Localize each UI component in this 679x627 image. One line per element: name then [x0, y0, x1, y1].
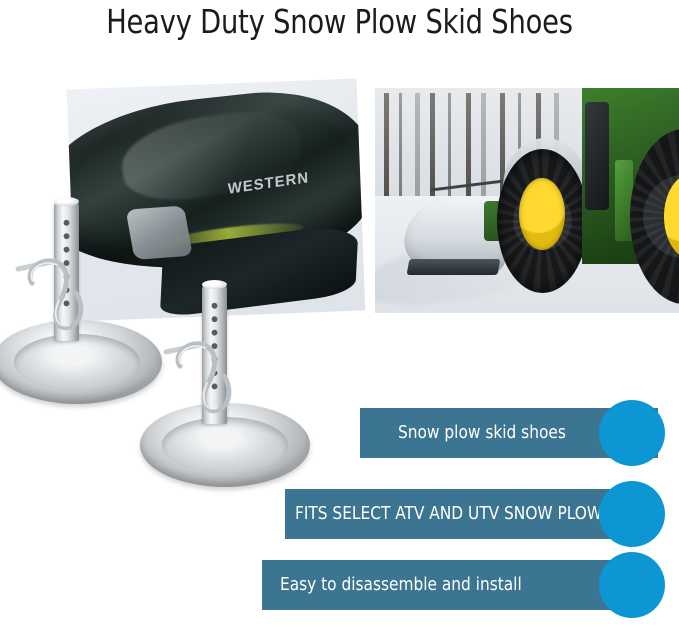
tree-trunk [481, 93, 486, 206]
hairpin-clip-icon [160, 326, 246, 422]
tractor-exhaust-stack [585, 102, 609, 210]
skid-shoe-back [140, 278, 318, 493]
feature-bar: FITS SELECT ATV AND UTV SNOW PLOWS [285, 489, 630, 539]
feature-label: Easy to disassemble and install [280, 574, 522, 596]
tractor-plowing-photo [375, 88, 679, 313]
feature-callout-1: Snow plow skid shoes [360, 408, 679, 458]
feature-bullet-circle [599, 552, 665, 618]
skid-shoe-base-recess [14, 334, 140, 389]
feature-bullet-circle [599, 400, 665, 466]
hairpin-clip-icon [12, 243, 98, 339]
plow-cutting-edge [407, 259, 501, 275]
tree-trunk [399, 93, 402, 206]
skid-shoe-post-cap [202, 280, 227, 289]
feature-label: Snow plow skid shoes [398, 422, 566, 444]
feature-bar: Easy to disassemble and install [262, 560, 638, 610]
page-title: Heavy Duty Snow Plow Skid Shoes [27, 2, 652, 42]
skid-shoe-base-recess [162, 417, 288, 472]
tree-trunk [466, 93, 471, 206]
feature-label: FITS SELECT ATV AND UTV SNOW PLOWS [295, 503, 612, 525]
skid-shoe-post-cap [54, 197, 79, 206]
tree-trunk [384, 93, 389, 206]
product-infographic: Heavy Duty Snow Plow Skid Shoes WESTERN [0, 0, 679, 627]
feature-callout-2: FITS SELECT ATV AND UTV SNOW PLOWS [285, 489, 679, 539]
feature-bullet-circle [599, 481, 665, 547]
tree-trunk [415, 93, 420, 206]
feature-callout-3: Easy to disassemble and install [262, 560, 679, 610]
tractor-rear-wheel-hub [519, 178, 565, 250]
